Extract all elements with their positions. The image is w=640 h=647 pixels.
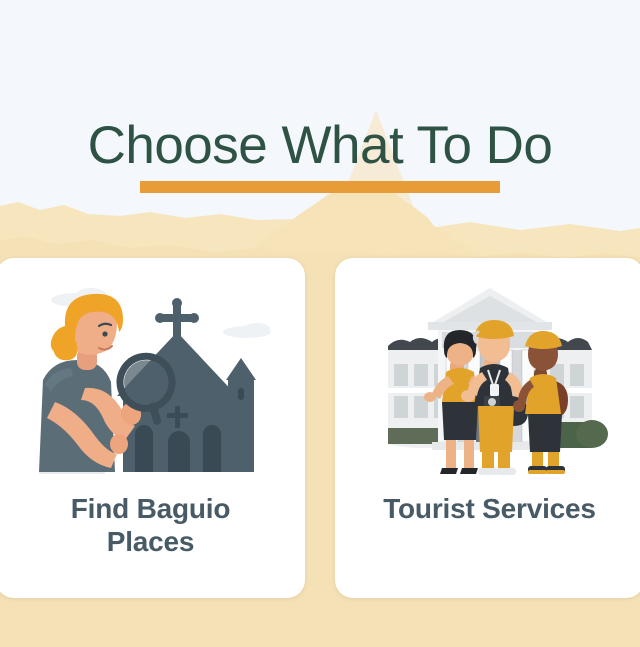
church-door <box>168 431 190 472</box>
church-window-right <box>203 425 221 472</box>
card-label-tourist-services: Tourist Services <box>383 493 596 526</box>
card-tourist-services[interactable]: CITY HALL BAGUIO <box>335 258 640 598</box>
choice-card-row: Find Baguio Places <box>0 258 640 598</box>
church-window-left <box>135 425 153 472</box>
hand-lower <box>110 434 128 454</box>
cross-icon <box>155 298 199 338</box>
card-label-find-baguio-places: Find Baguio Places <box>31 493 271 559</box>
card-find-baguio-places[interactable]: Find Baguio Places <box>0 258 305 598</box>
find-baguio-places-illustration <box>6 276 295 491</box>
tourist-services-illustration: CITY HALL BAGUIO <box>345 276 634 491</box>
